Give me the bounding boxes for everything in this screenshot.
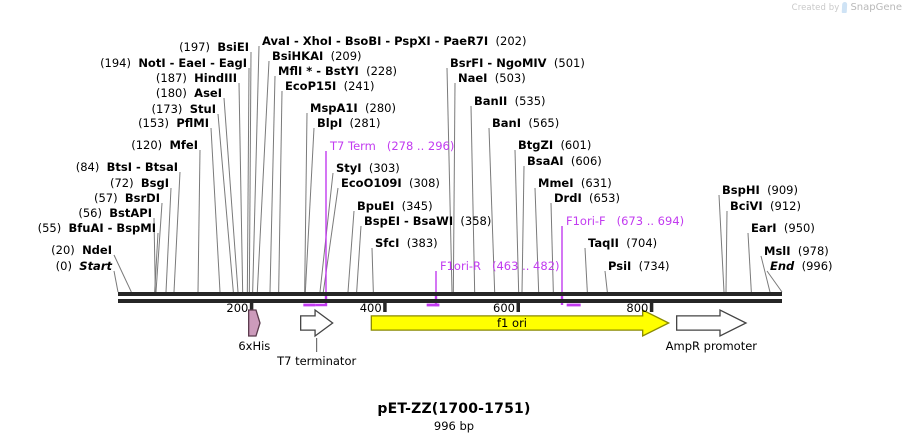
enzyme-position: (653): [589, 191, 620, 205]
plasmid-length: 996 bp: [0, 419, 908, 433]
enzyme-name: BsgI: [141, 176, 169, 190]
enzyme-name: EcoO109I: [341, 176, 402, 190]
enzyme-label-start[interactable]: (0) Start: [56, 260, 112, 272]
enzyme-name: HindIII: [194, 71, 237, 85]
enzyme-name: SfcI: [375, 236, 399, 250]
enzyme-label-pflmi[interactable]: (153) PflMI: [138, 117, 209, 129]
enzyme-name: AvaI - XhoI - BsoBI - PspXI - PaeR7I: [262, 34, 488, 48]
enzyme-position: (978): [798, 244, 829, 258]
enzyme-label-bsrdi[interactable]: (57) BsrDI: [94, 192, 160, 204]
enzyme-name: BanII: [474, 94, 507, 108]
enzyme-label-stui[interactable]: (173) StuI: [152, 103, 217, 115]
enzyme-name: BsiHKAI: [272, 49, 323, 63]
enzyme-name: PsiI: [608, 259, 631, 273]
enzyme-name: BfuAI - BspMI: [69, 221, 156, 235]
enzyme-position: (704): [626, 236, 657, 250]
enzyme-name: MspA1I: [310, 101, 358, 115]
enzyme-name: BtsI - BtsaI: [107, 160, 178, 174]
enzyme-position: (84): [76, 160, 100, 174]
enzyme-position: (734): [639, 259, 670, 273]
page-title: pET-ZZ(1700-1751): [0, 401, 908, 417]
enzyme-label-bsgi[interactable]: (72) BsgI: [110, 177, 169, 189]
enzyme-name: BstAPI: [109, 206, 152, 220]
enzyme-label-blpi[interactable]: BlpI (281): [317, 117, 380, 129]
enzyme-position: (280): [365, 101, 396, 115]
feature-range: (463 .. 482): [492, 259, 560, 273]
enzyme-name: BpuEI: [357, 199, 394, 213]
enzyme-position: (535): [515, 94, 546, 108]
ruler-tick-600: 600: [493, 301, 515, 315]
enzyme-name: EcoP15I: [285, 79, 336, 93]
map-feature-label-6xhis[interactable]: 6xHis: [238, 339, 270, 353]
enzyme-position: (194): [100, 56, 131, 70]
enzyme-name: NdeI: [82, 243, 112, 257]
enzyme-position: (950): [784, 221, 815, 235]
enzyme-label-styi[interactable]: StyI (303): [336, 162, 400, 174]
feature-range: (673 .. 694): [617, 214, 685, 228]
feature-range: (278 .. 296): [387, 139, 455, 153]
ruler-tick-800: 800: [626, 301, 648, 315]
enzyme-position: (601): [560, 138, 591, 152]
enzyme-label-mmei[interactable]: MmeI (631): [538, 177, 612, 189]
enzyme-name: BspEI - BsaWI: [364, 214, 453, 228]
enzyme-position: (308): [409, 176, 440, 190]
enzyme-position: (383): [407, 236, 438, 250]
map-feature-label-f1ori[interactable]: f1 ori: [497, 316, 527, 330]
enzyme-name: BanI: [492, 116, 521, 130]
enzyme-position: (202): [496, 34, 527, 48]
enzyme-name: BciVI: [730, 199, 763, 213]
enzyme-name: BspHI: [722, 183, 760, 197]
enzyme-label-ndei[interactable]: (20) NdeI: [51, 244, 112, 256]
enzyme-position: (228): [366, 64, 397, 78]
enzyme-position: (241): [344, 79, 375, 93]
enzyme-label-end[interactable]: End (996): [770, 260, 833, 272]
enzyme-label-bspei[interactable]: BspEI - BsaWI (358): [364, 215, 491, 227]
enzyme-label-bsiei[interactable]: (197) BsiEI: [179, 41, 249, 53]
enzyme-position: (56): [78, 206, 102, 220]
enzyme-label-bpuei[interactable]: BpuEI (345): [357, 200, 433, 212]
enzyme-label-btsi[interactable]: (84) BtsI - BtsaI: [76, 161, 178, 173]
enzyme-label-bsihkai[interactable]: BsiHKAI (209): [272, 50, 362, 62]
enzyme-label-taqii[interactable]: TaqII (704): [588, 237, 657, 249]
enzyme-position: (912): [770, 199, 801, 213]
enzyme-position: (173): [152, 102, 183, 116]
enzyme-label-bfuai[interactable]: (55) BfuAI - BspMI: [38, 222, 156, 234]
enzyme-label-hindiii[interactable]: (187) HindIII: [156, 72, 237, 84]
enzyme-position: (996): [802, 259, 833, 273]
enzyme-position: (197): [179, 40, 210, 54]
enzyme-position: (501): [554, 56, 585, 70]
feature-name: F1ori-R: [440, 259, 481, 273]
enzyme-label-bcivi[interactable]: BciVI (912): [730, 200, 801, 212]
enzyme-label-banii[interactable]: BanII (535): [474, 95, 546, 107]
feature-name: F1ori-F: [566, 214, 606, 228]
enzyme-label-eari[interactable]: EarI (950): [751, 222, 815, 234]
enzyme-label-bani[interactable]: BanI (565): [492, 117, 559, 129]
feature-name: T7 Term: [330, 139, 376, 153]
enzyme-position: (565): [528, 116, 559, 130]
enzyme-label-bsaai[interactable]: BsaAI (606): [527, 155, 602, 167]
enzyme-label-btgzi[interactable]: BtgZI (601): [518, 139, 591, 151]
enzyme-position: (55): [38, 221, 62, 235]
enzyme-label-avai[interactable]: AvaI - XhoI - BsoBI - PspXI - PaeR7I (20…: [262, 35, 526, 47]
enzyme-name: EarI: [751, 221, 777, 235]
enzyme-name: StyI: [336, 161, 362, 175]
enzyme-name: MfeI: [169, 138, 198, 152]
feature-label-t7term[interactable]: T7 Term (278 .. 296): [330, 140, 454, 152]
enzyme-label-bstapi[interactable]: (56) BstAPI: [78, 207, 152, 219]
enzyme-name: MslI: [764, 244, 791, 258]
enzyme-position: (180): [156, 86, 187, 100]
enzyme-position: (503): [495, 71, 526, 85]
enzyme-label-noti[interactable]: (194) NotI - EaeI - EagI: [100, 57, 247, 69]
enzyme-position: (345): [402, 199, 433, 213]
enzyme-name: StuI: [190, 102, 216, 116]
enzyme-name: DrdI: [554, 191, 582, 205]
enzyme-name: End: [770, 259, 794, 273]
enzyme-name: MflI * - BstYI: [278, 64, 359, 78]
ruler-tick-400: 400: [360, 301, 382, 315]
enzyme-position: (303): [369, 161, 400, 175]
enzyme-name: PflMI: [176, 116, 209, 130]
enzyme-position: (20): [51, 243, 75, 257]
enzyme-name: MmeI: [538, 176, 574, 190]
enzyme-label-mspa1i[interactable]: MspA1I (280): [310, 102, 396, 114]
enzyme-label-mflii[interactable]: MflI * - BstYI (228): [278, 65, 397, 77]
enzyme-position: (631): [581, 176, 612, 190]
enzyme-label-mfei[interactable]: (120) MfeI: [131, 139, 198, 151]
enzyme-name: TaqII: [588, 236, 619, 250]
enzyme-position: (57): [94, 191, 118, 205]
enzyme-name: BlpI: [317, 116, 342, 130]
enzyme-label-ecoo109i[interactable]: EcoO109I (308): [341, 177, 440, 189]
enzyme-position: (606): [571, 154, 602, 168]
enzyme-label-drdi[interactable]: DrdI (653): [554, 192, 620, 204]
plasmid-map-canvas: Created by SnapGene (0) Start(20) NdeI(5…: [0, 0, 908, 441]
feature-label-f1ori-f[interactable]: F1ori-F (673 .. 694): [566, 215, 684, 227]
enzyme-label-psii[interactable]: PsiI (734): [608, 260, 670, 272]
enzyme-label-naei[interactable]: NaeI (503): [458, 72, 526, 84]
enzyme-label-msli[interactable]: MslI (978): [764, 245, 829, 257]
enzyme-name: Start: [79, 259, 112, 273]
enzyme-label-ecop15i[interactable]: EcoP15I (241): [285, 80, 375, 92]
enzyme-label-asei[interactable]: (180) AseI: [156, 87, 222, 99]
map-feature-label-t7terminator[interactable]: T7 terminator: [277, 354, 356, 368]
feature-label-f1ori-r[interactable]: F1ori-R (463 .. 482): [440, 260, 560, 272]
enzyme-name: NotI - EaeI - EagI: [138, 56, 247, 70]
enzyme-name: AseI: [194, 86, 222, 100]
enzyme-name: BsrDI: [125, 191, 160, 205]
enzyme-name: BsaAI: [527, 154, 564, 168]
enzyme-name: NaeI: [458, 71, 487, 85]
enzyme-label-bsrfi[interactable]: BsrFI - NgoMIV (501): [450, 57, 585, 69]
enzyme-position: (209): [331, 49, 362, 63]
ruler-tick-200: 200: [226, 301, 248, 315]
enzyme-position: (281): [350, 116, 381, 130]
enzyme-position: (358): [460, 214, 491, 228]
enzyme-name: BsiEI: [217, 40, 249, 54]
enzyme-position: (0): [56, 259, 72, 273]
enzyme-name: BsrFI - NgoMIV: [450, 56, 547, 70]
enzyme-position: (120): [131, 138, 162, 152]
enzyme-position: (187): [156, 71, 187, 85]
enzyme-name: BtgZI: [518, 138, 553, 152]
map-feature-label-amprpromoter[interactable]: AmpR promoter: [666, 339, 757, 353]
enzyme-position: (909): [767, 183, 798, 197]
enzyme-label-sfci[interactable]: SfcI (383): [375, 237, 438, 249]
enzyme-position: (153): [138, 116, 169, 130]
enzyme-position: (72): [110, 176, 134, 190]
enzyme-label-bsphi[interactable]: BspHI (909): [722, 184, 798, 196]
